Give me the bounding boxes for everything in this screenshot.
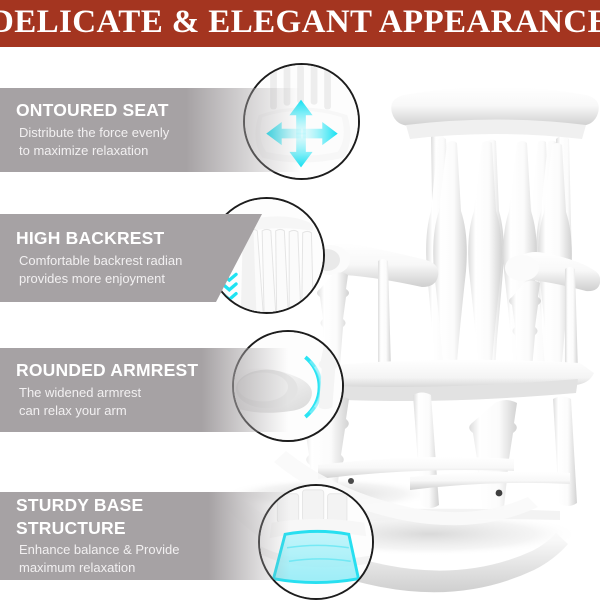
- feature-subtitle-line2: provides more enjoyment: [16, 270, 262, 288]
- feature-subtitle-line1: Enhance balance & Provide: [16, 541, 290, 559]
- feature-band-contoured-seat: ONTOURED SEAT Distribute the force evenl…: [0, 88, 300, 172]
- page-title: DELICATE & ELEGANT APPEARANCE: [0, 6, 600, 41]
- feature-subtitle-line1: Distribute the force evenly: [16, 124, 300, 142]
- feature-subtitle-line2: can relax your arm: [16, 402, 288, 420]
- feature-title-line1: STURDY BASE: [16, 495, 290, 515]
- feature-subtitle-line2: maximum relaxation: [16, 559, 290, 577]
- feature-subtitle-line2: to maximize relaxation: [16, 142, 300, 160]
- infographic-page: DELICATE & ELEGANT APPEARANCE: [0, 0, 600, 600]
- feature-title: ONTOURED SEAT: [16, 100, 300, 120]
- feature-title: ROUNDED ARMREST: [16, 360, 288, 380]
- header-banner: DELICATE & ELEGANT APPEARANCE: [0, 0, 600, 47]
- feature-band-rounded-armrest: ROUNDED ARMREST The widened armrest can …: [0, 348, 288, 432]
- feature-subtitle-line1: The widened armrest: [16, 384, 288, 402]
- band-text-group: ROUNDED ARMREST The widened armrest can …: [16, 360, 288, 419]
- feature-band-sturdy-base: STURDY BASE STRUCTURE Enhance balance & …: [0, 492, 290, 580]
- feature-band-high-backrest: HIGH BACKREST Comfortable backrest radia…: [0, 214, 262, 302]
- band-text-group: ONTOURED SEAT Distribute the force evenl…: [16, 100, 300, 159]
- band-text-group: STURDY BASE STRUCTURE Enhance balance & …: [16, 495, 290, 577]
- feature-subtitle-line1: Comfortable backrest radian: [16, 252, 262, 270]
- feature-title: HIGH BACKREST: [16, 228, 262, 248]
- band-text-group: HIGH BACKREST Comfortable backrest radia…: [16, 228, 262, 287]
- feature-title-line2: STRUCTURE: [16, 518, 290, 538]
